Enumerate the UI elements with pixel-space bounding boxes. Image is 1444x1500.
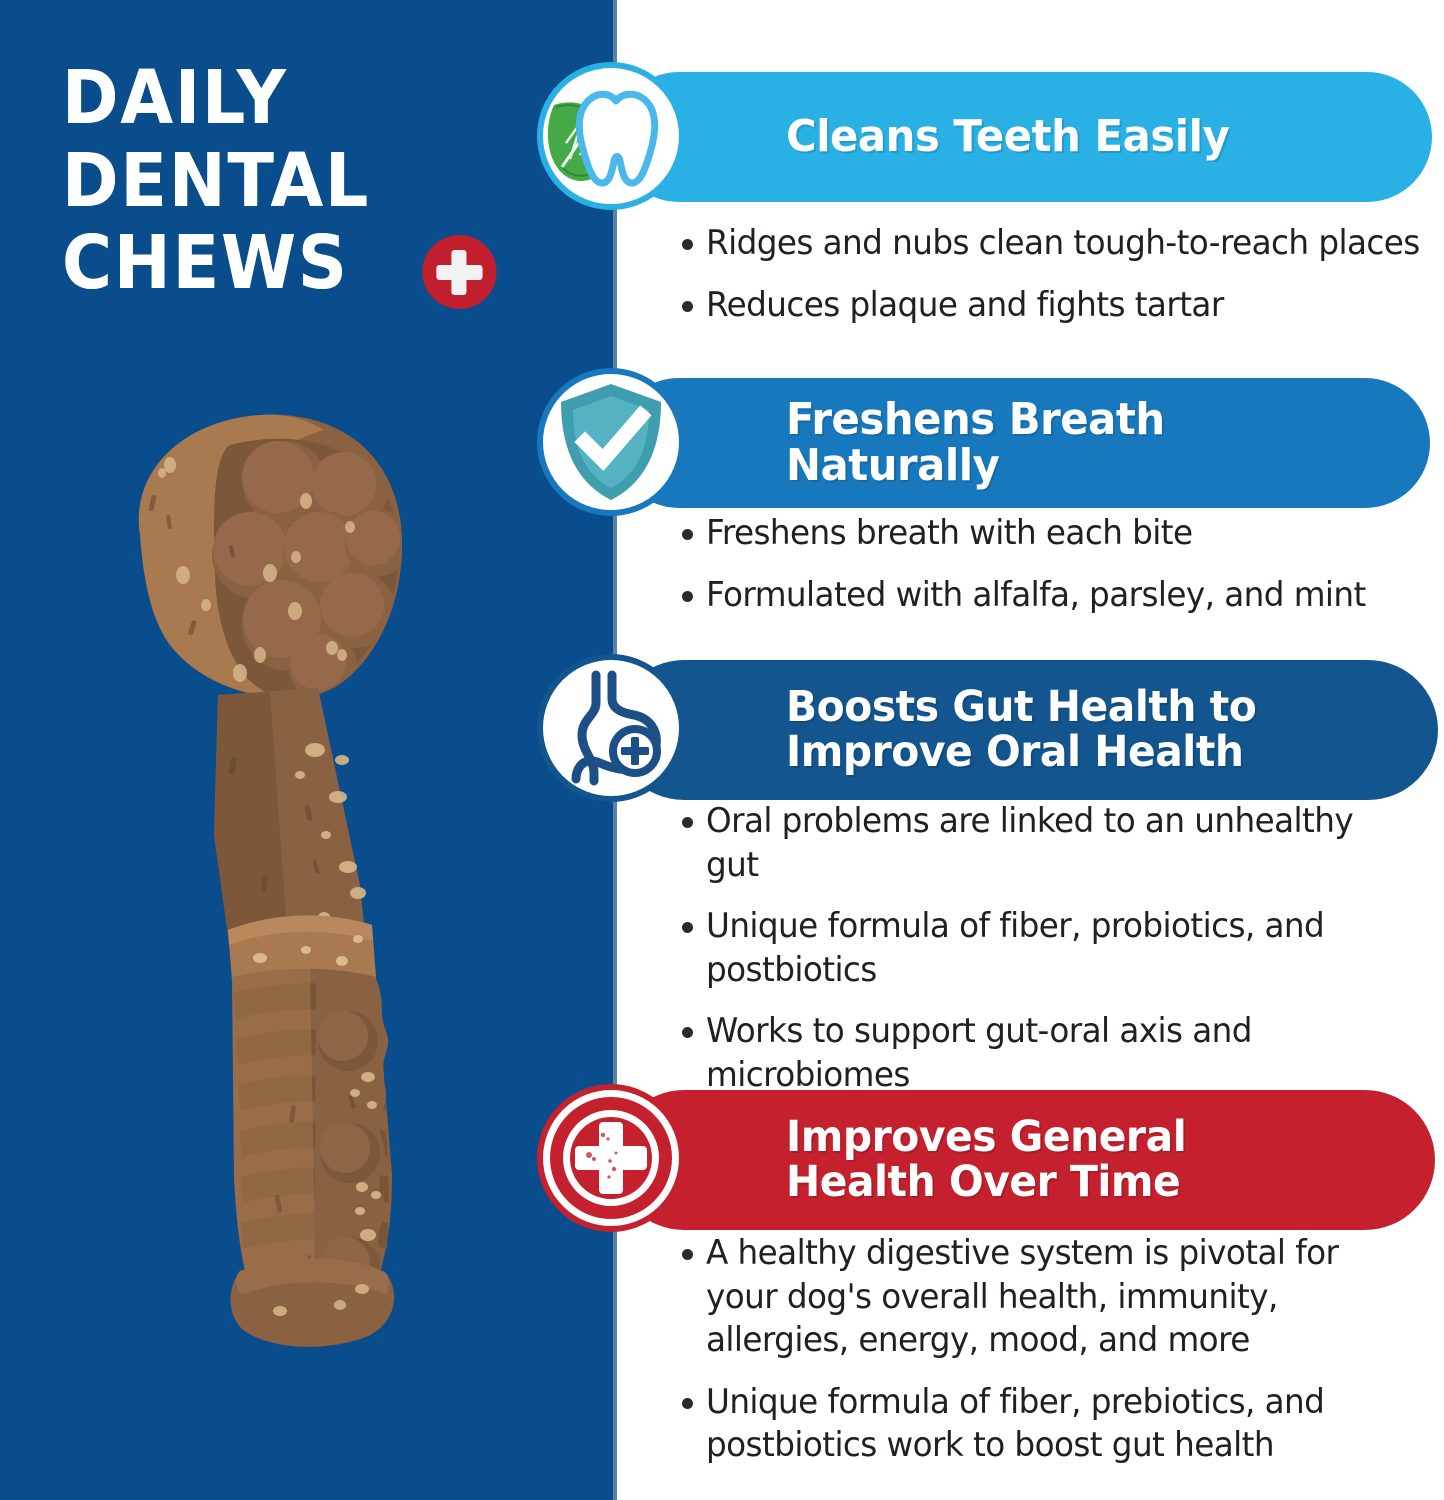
shield-check-icon: [537, 368, 685, 516]
feature-4-banner: Improves General Health Over Time: [614, 1090, 1435, 1230]
list-item: Reduces plaque and fights tartar: [682, 284, 1444, 328]
feature-4-heading: Improves General Health Over Time: [786, 1115, 1186, 1204]
list-item: A healthy digestive system is pivotal fo…: [682, 1232, 1444, 1363]
bullet-dot: [682, 529, 693, 540]
feature-1-heading: Cleans Teeth Easily: [786, 114, 1229, 160]
feature-3-bullets: Oral problems are linked to an unhealthy…: [682, 800, 1442, 1115]
feature-2-heading: Freshens Breath Naturally: [786, 397, 1373, 489]
feature-4-heading-line-1: Improves General: [786, 1115, 1186, 1160]
list-item: Ridges and nubs clean tough-to-reach pla…: [682, 222, 1444, 266]
feature-3-heading-line-2: Improve Oral Health: [786, 730, 1256, 775]
list-item: Unique formula of fiber, prebiotics, and…: [682, 1381, 1444, 1468]
bullet-dot: [682, 239, 693, 250]
feature-4-heading-line-2: Health Over Time: [786, 1160, 1186, 1205]
bullet-dot: [682, 301, 693, 312]
feature-1-bullets: Ridges and nubs clean tough-to-reach pla…: [682, 222, 1444, 345]
bullet-dot: [682, 591, 693, 602]
feature-2-bullets: Freshens breath with each bite Formulate…: [682, 512, 1444, 635]
tooth-with-mint-leaf-icon: [537, 62, 685, 210]
list-item: Freshens breath with each bite: [682, 512, 1444, 556]
bullet-dot: [682, 922, 693, 933]
tooth-icon: [579, 94, 655, 183]
feature-list: Cleans Teeth Easily: [0, 0, 1444, 1500]
medical-cross-circle-icon: [537, 1084, 685, 1232]
list-item: Formulated with alfalfa, parsley, and mi…: [682, 574, 1444, 618]
feature-3-heading-line-1: Boosts Gut Health to: [786, 685, 1256, 730]
feature-3-heading: Boosts Gut Health to Improve Oral Health: [786, 685, 1256, 774]
list-item: Unique formula of fiber, probiotics, and…: [682, 905, 1442, 992]
feature-2-banner: Freshens Breath Naturally: [614, 378, 1430, 508]
feature-1-banner: Cleans Teeth Easily: [614, 72, 1432, 202]
feature-4-bullets: A healthy digestive system is pivotal fo…: [682, 1232, 1444, 1486]
list-item: Works to support gut-oral axis and micro…: [682, 1010, 1442, 1097]
bullet-dot: [682, 1249, 693, 1260]
infographic-page: DAILY DENTAL CHEWS: [0, 0, 1444, 1500]
feature-3-banner: Boosts Gut Health to Improve Oral Health: [614, 660, 1438, 800]
list-item: Oral problems are linked to an unhealthy…: [682, 800, 1442, 887]
bullet-dot: [682, 1398, 693, 1409]
bullet-dot: [682, 1027, 693, 1038]
stomach-plus-icon: [537, 654, 685, 802]
bullet-dot: [682, 817, 693, 828]
